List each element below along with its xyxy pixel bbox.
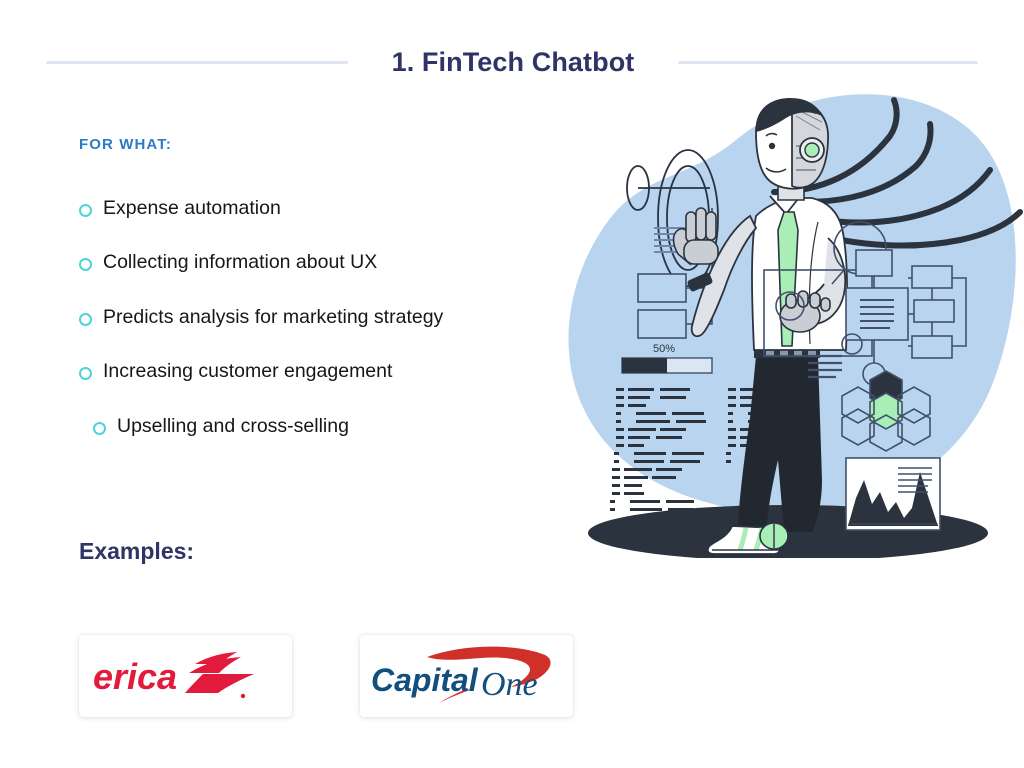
list-item-label: Collecting information about UX: [103, 250, 377, 274]
examples-heading: Examples:: [79, 538, 194, 565]
eye: [769, 143, 775, 149]
list-item: Expense automation: [79, 196, 579, 220]
section-label-for-what: FOR WHAT:: [79, 136, 172, 153]
list-item: Upselling and cross-selling: [79, 414, 579, 438]
slide-root: 1. FinTech Chatbot FOR WHAT: Expense aut…: [0, 0, 1024, 768]
bullet-dot-icon: [79, 204, 92, 217]
bullet-dot-icon: [79, 258, 92, 271]
bullet-dot-icon: [79, 313, 92, 326]
progress-label: 50%: [653, 343, 675, 355]
capital-one-logo-icon: Capital One: [369, 645, 565, 707]
example-logo-capital-one[interactable]: Capital One: [360, 635, 573, 717]
list-item-label: Predicts analysis for marketing strategy: [103, 305, 443, 329]
cyborg-chatbot-illustration: 50%: [560, 88, 1024, 558]
svg-text:One: One: [481, 666, 538, 703]
list-item-label: Increasing customer engagement: [103, 359, 392, 383]
erica-logo-icon: erica: [91, 646, 281, 706]
title-rule-right: [678, 61, 978, 64]
page-title: 1. FinTech Chatbot: [392, 47, 635, 78]
title-rule-left: [46, 61, 348, 64]
list-item: Increasing customer engagement: [79, 359, 579, 383]
title-row: 1. FinTech Chatbot: [0, 40, 1024, 84]
svg-text:erica: erica: [93, 656, 177, 697]
list-item: Collecting information about UX: [79, 250, 579, 274]
bullet-dot-icon: [93, 422, 106, 435]
list-item: Predicts analysis for marketing strategy: [79, 305, 579, 329]
robot-ear-module-icon: [800, 138, 824, 162]
progress-bar: [622, 358, 712, 373]
feature-bullet-list: Expense automation Collecting informatio…: [79, 196, 579, 468]
example-logo-erica[interactable]: erica: [79, 635, 292, 717]
list-item-label: Upselling and cross-selling: [117, 414, 349, 438]
list-item-label: Expense automation: [103, 196, 281, 220]
bullet-dot-icon: [79, 367, 92, 380]
area-chart-card: [846, 458, 940, 530]
illustration-svg: 50%: [560, 88, 1024, 558]
svg-text:Capital: Capital: [371, 662, 479, 698]
